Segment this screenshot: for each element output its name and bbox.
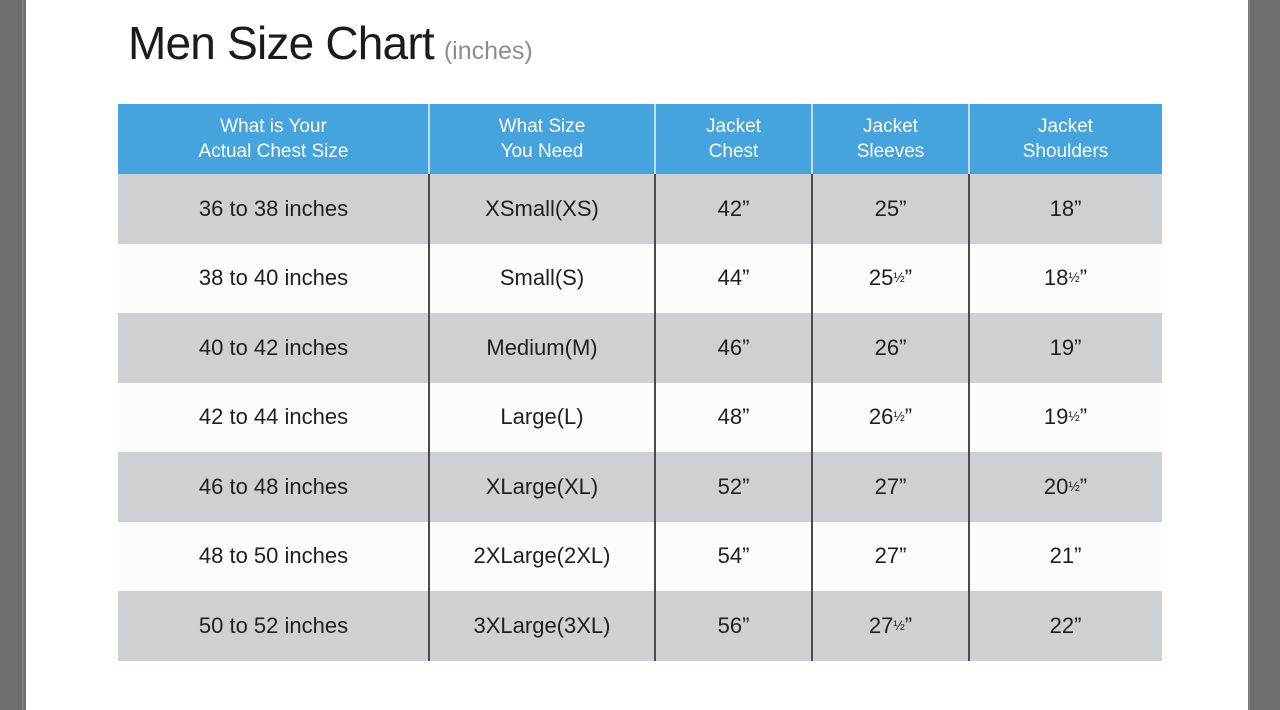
cell-jacket-sleeves: 25½” <box>812 244 969 314</box>
cell-jacket-chest: 44” <box>655 244 812 314</box>
table-header-row: What is Your Actual Chest Size What Size… <box>118 104 1162 174</box>
page-title-main: Men Size Chart <box>128 20 434 66</box>
page-title: Men Size Chart (inches) <box>128 20 533 66</box>
cell-size-you-need: Large(L) <box>429 383 655 453</box>
cell-size-you-need: Medium(M) <box>429 313 655 383</box>
size-chart-page: Men Size Chart (inches) What is Your Act… <box>0 0 1280 710</box>
column-header-jacket-sleeves: Jacket Sleeves <box>812 104 969 174</box>
table-row: 36 to 38 inchesXSmall(XS)42”25”18” <box>118 174 1162 244</box>
size-chart-table: What is Your Actual Chest Size What Size… <box>118 104 1162 661</box>
column-header-jacket-shoulders: Jacket Shoulders <box>969 104 1162 174</box>
cell-size-you-need: XSmall(XS) <box>429 174 655 244</box>
right-band-seam <box>1248 0 1250 710</box>
cell-jacket-chest: 54” <box>655 522 812 592</box>
cell-jacket-shoulders: 18½” <box>969 244 1162 314</box>
cell-size-you-need: XLarge(XL) <box>429 452 655 522</box>
cell-size-you-need: 2XLarge(2XL) <box>429 522 655 592</box>
column-header-line2: Shoulders <box>1023 139 1109 164</box>
cell-jacket-shoulders: 20½” <box>969 452 1162 522</box>
page-title-unit: (inches) <box>444 39 533 64</box>
cell-jacket-chest: 46” <box>655 313 812 383</box>
cell-size-you-need: 3XLarge(3XL) <box>429 591 655 661</box>
column-header-line2: You Need <box>501 139 584 164</box>
table-row: 48 to 50 inches2XLarge(2XL)54”27”21” <box>118 522 1162 592</box>
cell-actual-chest-size: 42 to 44 inches <box>118 383 429 453</box>
cell-actual-chest-size: 38 to 40 inches <box>118 244 429 314</box>
table-row: 50 to 52 inches3XLarge(3XL)56”27½”22” <box>118 591 1162 661</box>
column-header-jacket-chest: Jacket Chest <box>655 104 812 174</box>
cell-jacket-sleeves: 26” <box>812 313 969 383</box>
table-row: 40 to 42 inchesMedium(M)46”26”19” <box>118 313 1162 383</box>
cell-actual-chest-size: 40 to 42 inches <box>118 313 429 383</box>
column-header-line2: Sleeves <box>857 139 925 164</box>
column-header-line1: Jacket <box>863 114 918 139</box>
cell-actual-chest-size: 48 to 50 inches <box>118 522 429 592</box>
cell-jacket-shoulders: 22” <box>969 591 1162 661</box>
cell-jacket-sleeves: 27” <box>812 452 969 522</box>
cell-jacket-chest: 52” <box>655 452 812 522</box>
column-header-line1: What Size <box>499 114 586 139</box>
cell-jacket-chest: 42” <box>655 174 812 244</box>
table-row: 46 to 48 inchesXLarge(XL)52”27”20½” <box>118 452 1162 522</box>
column-header-actual-chest-size: What is Your Actual Chest Size <box>118 104 429 174</box>
cell-jacket-sleeves: 27” <box>812 522 969 592</box>
cell-jacket-sleeves: 27½” <box>812 591 969 661</box>
column-header-line1: Jacket <box>1038 114 1093 139</box>
left-band-seam <box>22 0 24 710</box>
column-header-line2: Actual Chest Size <box>199 139 349 164</box>
cell-size-you-need: Small(S) <box>429 244 655 314</box>
table-row: 38 to 40 inchesSmall(S)44”25½”18½” <box>118 244 1162 314</box>
cell-jacket-shoulders: 21” <box>969 522 1162 592</box>
column-header-size-you-need: What Size You Need <box>429 104 655 174</box>
column-header-line1: What is Your <box>220 114 327 139</box>
column-header-line1: Jacket <box>706 114 761 139</box>
cell-jacket-sleeves: 25” <box>812 174 969 244</box>
cell-jacket-sleeves: 26½” <box>812 383 969 453</box>
cell-jacket-shoulders: 19” <box>969 313 1162 383</box>
table-body: 36 to 38 inchesXSmall(XS)42”25”18”38 to … <box>118 174 1162 661</box>
table-row: 42 to 44 inchesLarge(L)48”26½”19½” <box>118 383 1162 453</box>
cell-jacket-chest: 56” <box>655 591 812 661</box>
cell-actual-chest-size: 36 to 38 inches <box>118 174 429 244</box>
cell-jacket-shoulders: 19½” <box>969 383 1162 453</box>
column-header-line2: Chest <box>709 139 759 164</box>
cell-actual-chest-size: 50 to 52 inches <box>118 591 429 661</box>
right-letterbox-band <box>1248 0 1280 710</box>
cell-jacket-chest: 48” <box>655 383 812 453</box>
cell-jacket-shoulders: 18” <box>969 174 1162 244</box>
chart-content-area: Men Size Chart (inches) What is Your Act… <box>26 0 1248 710</box>
cell-actual-chest-size: 46 to 48 inches <box>118 452 429 522</box>
